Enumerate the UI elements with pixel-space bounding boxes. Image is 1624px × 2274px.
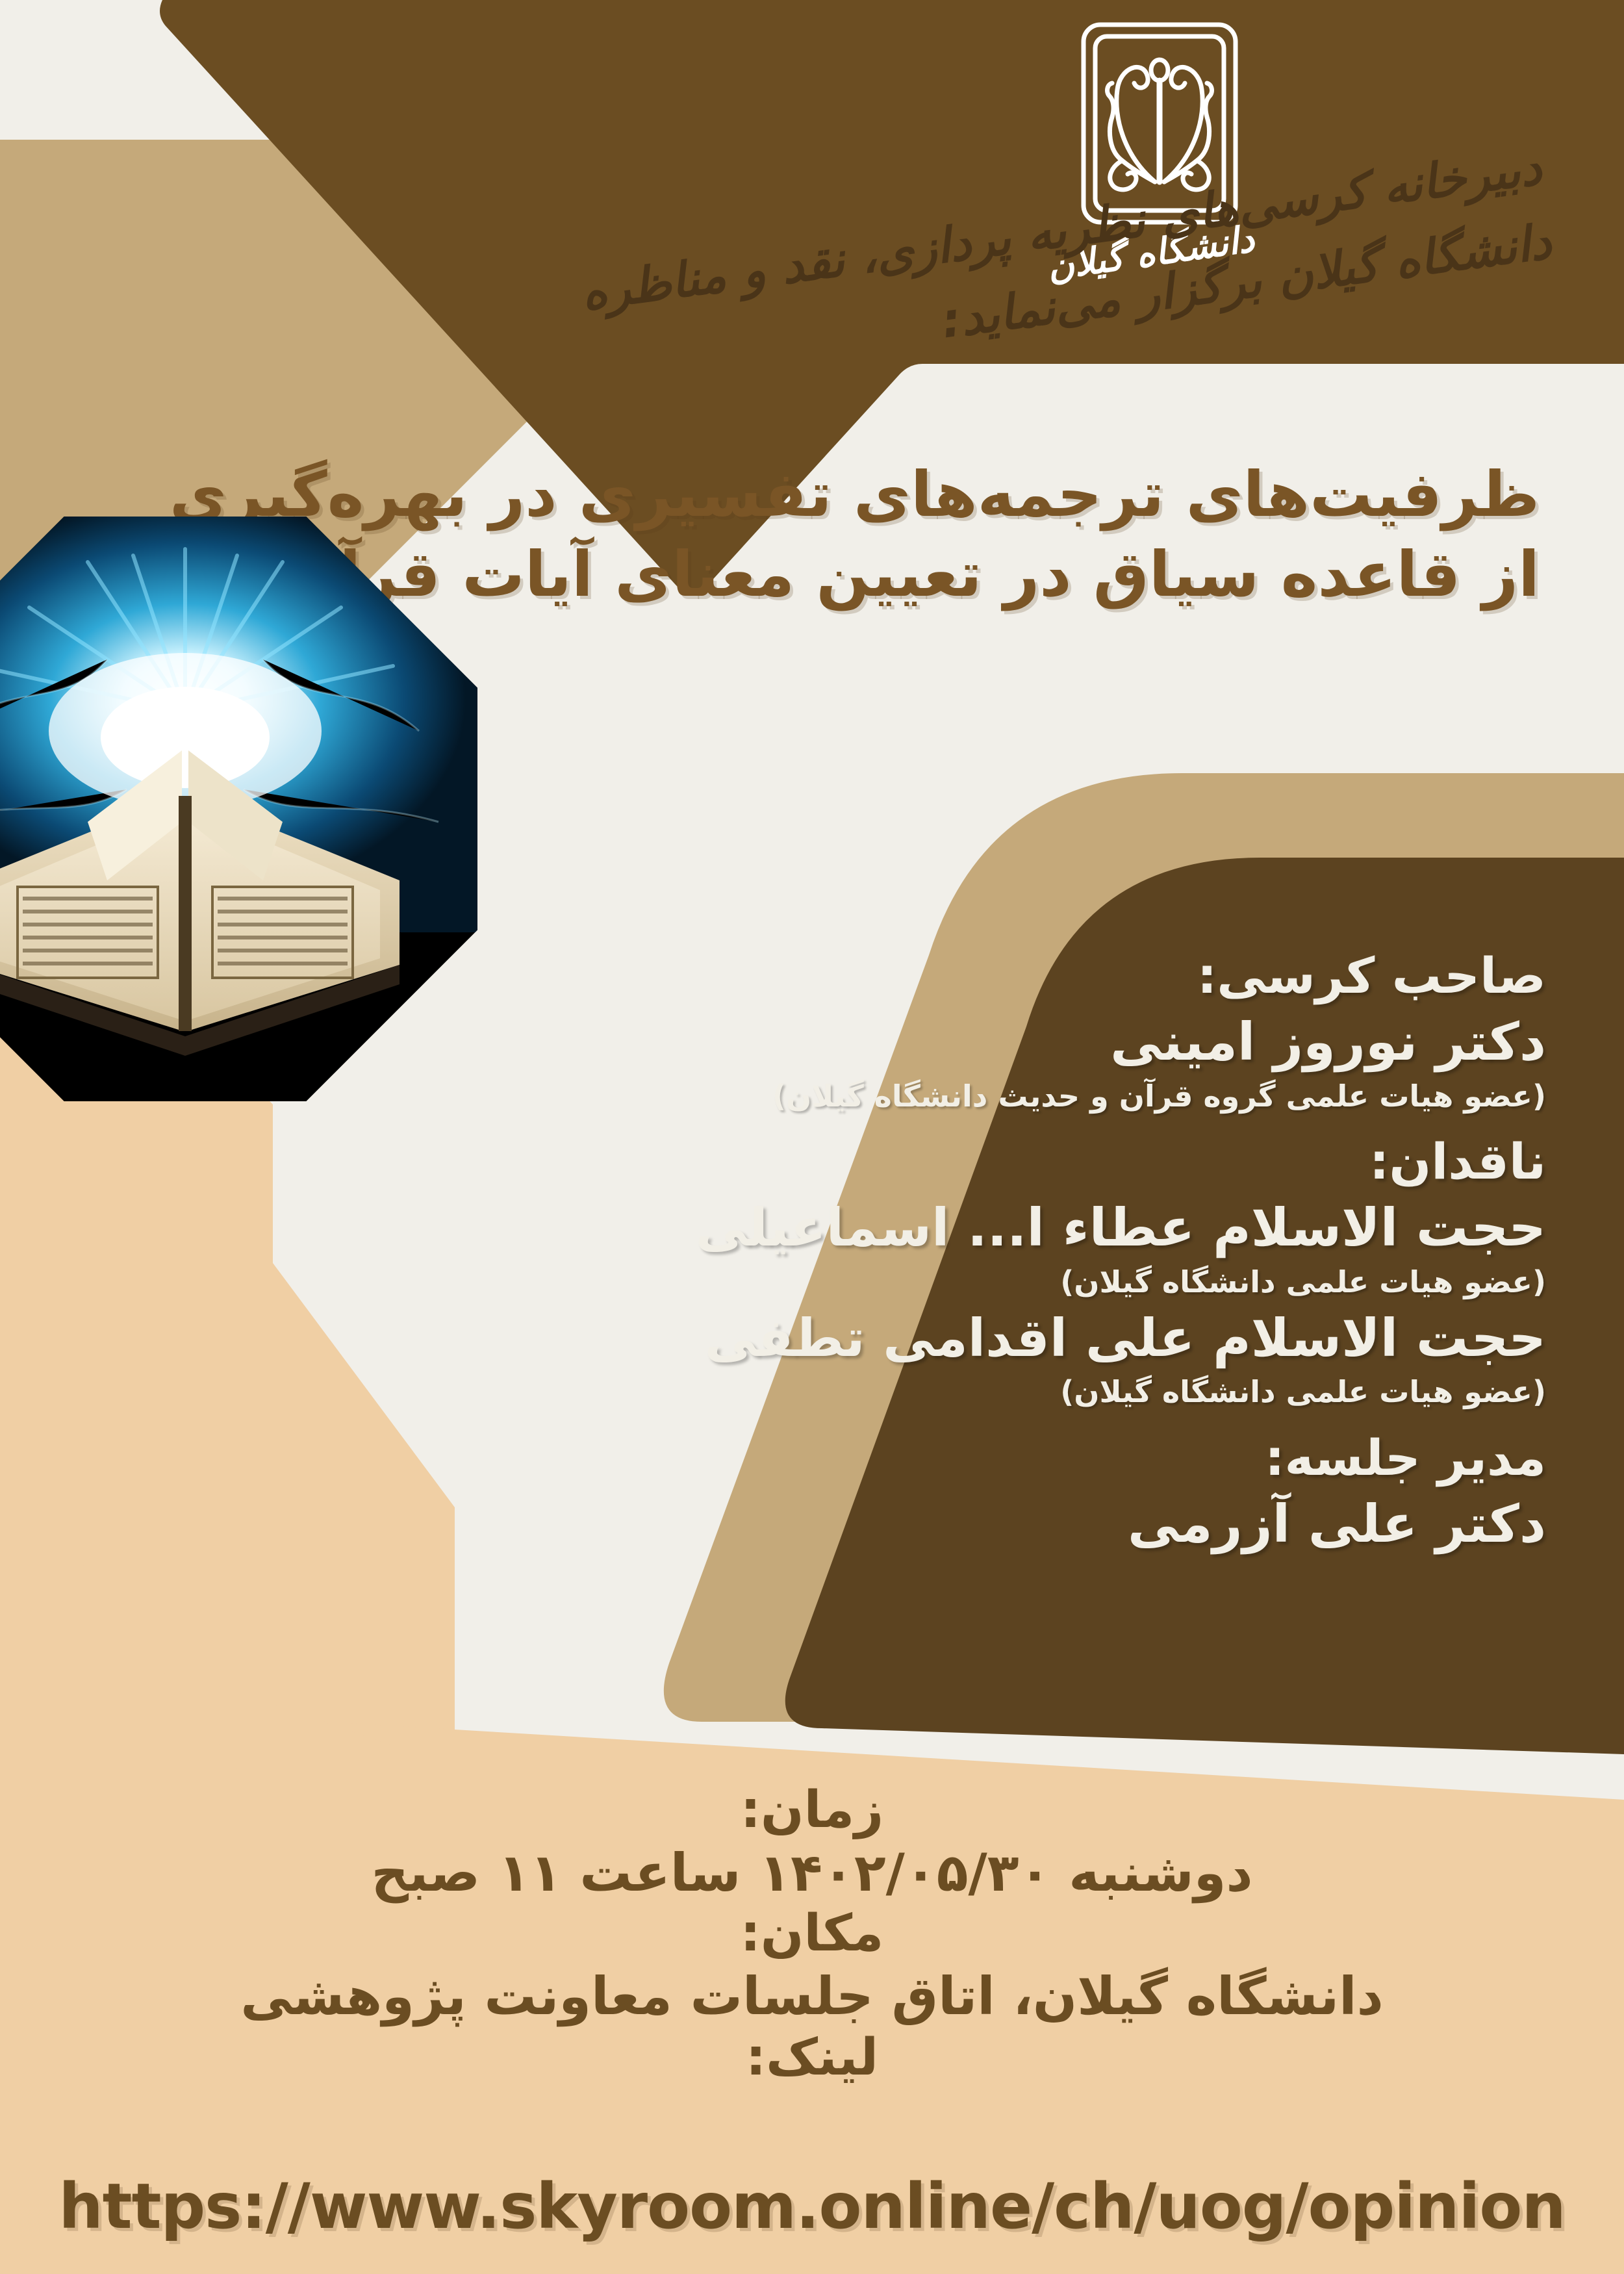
critic-2-affiliation: (عضو هیات علمی دانشگاه گیلان) [572,1373,1546,1411]
moderator-name: دکتر علی آزرمی [572,1492,1546,1556]
place-value: دانشگاه گیلان، اتاق جلسات معاونت پژوهشی [0,1966,1624,2027]
critic-1-affiliation: (عضو هیات علمی دانشگاه گیلان) [572,1264,1546,1301]
chair-affiliation: (عضو هیات علمی گروه قرآن و حدیث دانشگاه … [572,1078,1546,1116]
critic-1-name: حجت الاسلام عطاء ا... اسماعیلی [572,1196,1546,1260]
time-value: دوشنبه ۱۴۰۲/۰۵/۳۰ ساعت ۱۱ صبح [0,1843,1624,1904]
critics-label: ناقدان: [572,1132,1546,1191]
event-details: زمان: دوشنبه ۱۴۰۲/۰۵/۳۰ ساعت ۱۱ صبح مکان… [0,1780,1624,2088]
chair-label: صاحب کرسی: [572,946,1546,1005]
chair-name: دکتر نوروز امینی [572,1010,1546,1074]
time-label: زمان: [0,1780,1624,1840]
event-poster: دانشگاه گیلان دبیرخانه کرسی‌های نظریه پر… [0,0,1624,2274]
critic-2-name: حجت الاسلام علی اقدامی تطفی [572,1307,1546,1370]
link-label: لینک: [0,2028,1624,2088]
speakers-section: صاحب کرسی: دکتر نوروز امینی (عضو هیات عل… [572,929,1546,1555]
meeting-link[interactable]: https://www.skyroom.online/ch/uog/opinio… [0,2170,1624,2243]
moderator-label: مدیر جلسه: [572,1428,1546,1487]
place-label: مکان: [0,1904,1624,1963]
